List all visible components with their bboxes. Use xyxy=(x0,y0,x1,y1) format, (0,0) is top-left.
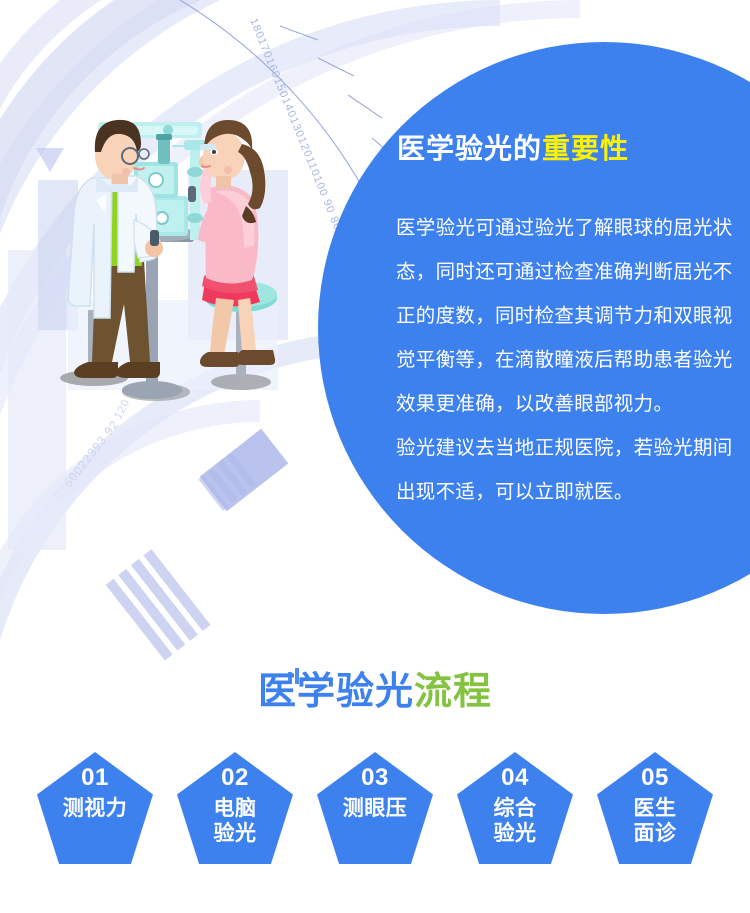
section-heading-blue: 医学验光 xyxy=(258,671,414,713)
process-step-list: 01 测视力 02 电脑 验光 03 测眼压 04 综合 验光 05 医生 面诊 xyxy=(37,752,713,870)
step-label: 综合 验光 xyxy=(494,796,537,846)
step-number: 01 xyxy=(81,766,109,790)
process-step-01[interactable]: 01 测视力 xyxy=(37,752,153,864)
decor-stripes-cluster xyxy=(106,549,211,660)
step-label: 测眼压 xyxy=(343,796,408,821)
step-number: 05 xyxy=(641,766,669,790)
hero-title-main: 医学验光的 xyxy=(397,133,542,164)
decor-arc-lower-2 xyxy=(0,400,260,700)
decor-left-scale: 0750022393 92 xyxy=(51,417,121,502)
step-label: 电脑 验光 xyxy=(214,796,257,846)
step-number: 04 xyxy=(501,766,529,790)
decor-stripes-cluster-2 xyxy=(198,453,257,511)
hero-paragraph-2: 验光建议去当地正规医院，若验光期间出现不适，可以立即就医。 xyxy=(396,426,744,514)
optometrist-illustration-svg xyxy=(38,100,302,422)
hero-title-accent: 重要性 xyxy=(542,133,629,164)
step-label: 测视力 xyxy=(63,796,128,821)
process-step-02[interactable]: 02 电脑 验光 xyxy=(177,752,293,864)
process-step-03[interactable]: 03 测眼压 xyxy=(317,752,433,864)
hero-title: 医学验光的重要性 xyxy=(397,132,737,166)
infographic-page: 180170160150140130120110100 90 80 075002… xyxy=(0,0,750,913)
process-step-04[interactable]: 04 综合 验光 xyxy=(457,752,573,864)
optometrist-illustration xyxy=(38,100,302,422)
step-number: 02 xyxy=(221,766,249,790)
step-number: 03 xyxy=(361,766,389,790)
hero-body: 医学验光可通过验光了解眼球的屈光状态，同时还可通过检查准确判断屈光不正的度数，同… xyxy=(396,206,744,514)
step-label: 医生 面诊 xyxy=(634,796,677,846)
hero-paragraph-1: 医学验光可通过验光了解眼球的屈光状态，同时还可通过检查准确判断屈光不正的度数，同… xyxy=(396,206,744,426)
process-step-05[interactable]: 05 医生 面诊 xyxy=(597,752,713,864)
section-heading: 医学验光流程 xyxy=(0,660,750,715)
section-heading-green: 流程 xyxy=(414,671,492,713)
decor-block xyxy=(200,429,289,512)
